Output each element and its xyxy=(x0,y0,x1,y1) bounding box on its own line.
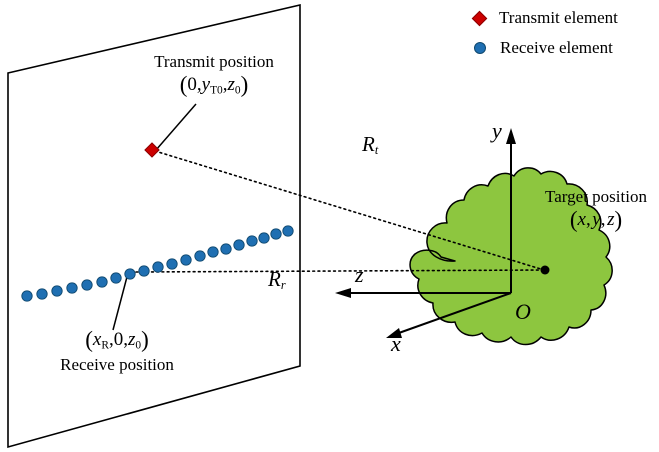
range-sub: t xyxy=(375,143,378,157)
z-axis-arrowhead xyxy=(335,288,351,298)
receive-element xyxy=(271,229,281,239)
z-axis-label: z xyxy=(355,263,364,287)
legend-label-transmit-element: Transmit element xyxy=(499,8,618,28)
receive-element xyxy=(247,236,257,246)
receive-element xyxy=(111,273,121,283)
legend-label-receive-element: Receive element xyxy=(500,38,613,58)
origin-label: O xyxy=(515,300,531,324)
paren-close: ) xyxy=(241,72,249,97)
coord-x: 0 xyxy=(187,75,197,96)
receive-element xyxy=(259,233,269,243)
target-position-title: Target position xyxy=(516,188,659,206)
transmit-range-label: Rt xyxy=(362,133,378,157)
paren-close: ) xyxy=(141,327,149,352)
coord-z-var: z xyxy=(227,75,234,96)
target-position-coords: (x, y, z) xyxy=(516,208,659,233)
receive-element xyxy=(82,280,92,290)
coord-y-var: y xyxy=(592,210,600,231)
circle-marker-icon xyxy=(474,42,486,54)
paren-open: ( xyxy=(85,327,93,352)
range-var: R xyxy=(268,267,281,291)
receive-element xyxy=(234,240,244,250)
receive-element xyxy=(139,266,149,276)
coord-y-sub: T0 xyxy=(210,85,223,97)
transmit-position-annotation: Transmit position (0,yT0,z0) xyxy=(129,53,299,98)
coord-y-var: y xyxy=(202,75,210,96)
diagram-canvas: Transmit position (0,yT0,z0) (xR,0,z0) R… xyxy=(0,0,659,452)
paren-close: ) xyxy=(614,207,622,232)
receive-element xyxy=(167,259,177,269)
receive-position-title: Receive position xyxy=(22,356,212,374)
coord-sep-1: , xyxy=(586,210,591,231)
receive-element xyxy=(97,277,107,287)
paren-open: ( xyxy=(570,207,578,232)
range-var: R xyxy=(362,132,375,156)
receive-element xyxy=(208,247,218,257)
receive-range-label: Rr xyxy=(268,268,286,292)
receive-element xyxy=(37,289,47,299)
range-sub: r xyxy=(281,278,286,292)
y-axis-arrowhead xyxy=(506,128,516,144)
coord-x-var: x xyxy=(578,210,586,231)
coord-x-sub: R xyxy=(101,339,109,351)
receive-element xyxy=(195,251,205,261)
x-axis-label: x xyxy=(391,332,401,356)
legend-item-transmit-element: Transmit element xyxy=(474,8,618,28)
coord-sep-2: , xyxy=(601,210,606,231)
transmit-position-title: Transmit position xyxy=(129,53,299,71)
y-axis-label: y xyxy=(492,119,502,143)
target-position-annotation: Target position (x, y, z) xyxy=(516,188,659,233)
receive-element xyxy=(221,244,231,254)
receive-element xyxy=(283,226,293,236)
transmit-position-coords: (0,yT0,z0) xyxy=(129,73,299,98)
diamond-marker-icon xyxy=(472,10,488,26)
coord-y: 0 xyxy=(114,329,124,350)
receive-element xyxy=(181,255,191,265)
receive-position-annotation: (xR,0,z0) Receive position xyxy=(22,328,212,374)
receive-element xyxy=(153,262,163,272)
receive-element xyxy=(22,291,32,301)
receive-element xyxy=(52,286,62,296)
legend-item-receive-element: Receive element xyxy=(474,38,613,58)
receive-element xyxy=(67,283,77,293)
receive-element xyxy=(125,269,135,279)
receive-position-coords: (xR,0,z0) xyxy=(22,328,212,353)
